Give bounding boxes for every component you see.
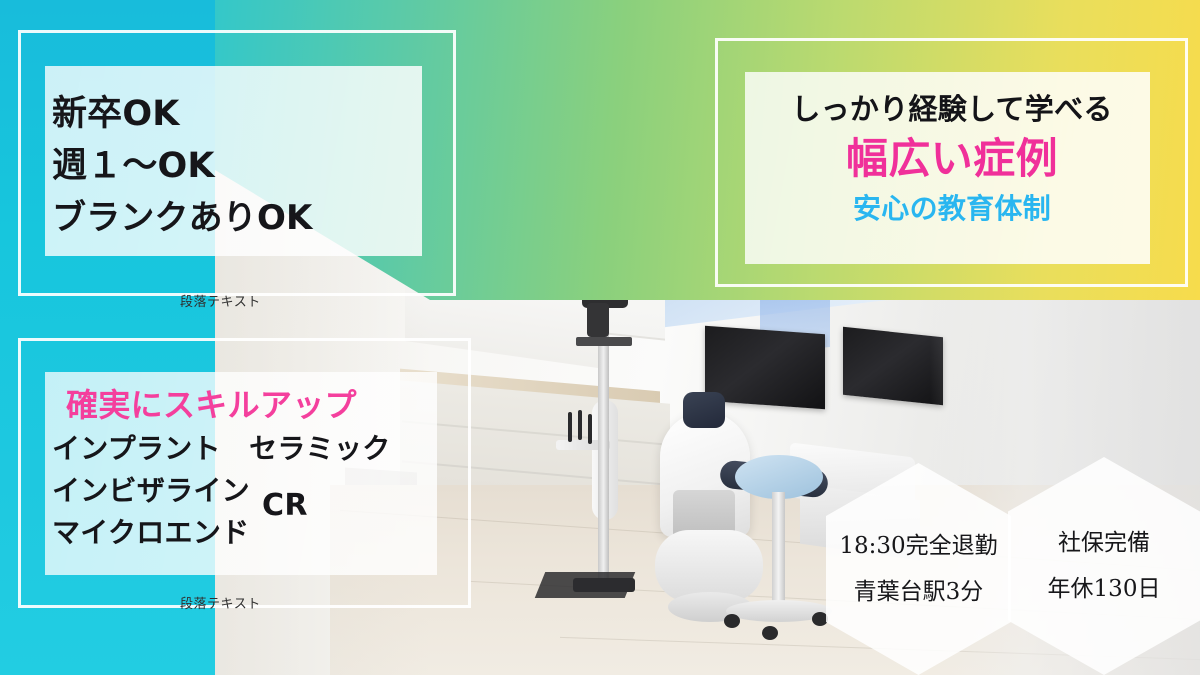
hex-badge-1-line-2: 青葉台駅3分 bbox=[854, 569, 984, 615]
caption-top-left: 段落テキスト bbox=[180, 291, 261, 310]
hex-badge-2-line-1: 社保完備 bbox=[1058, 520, 1150, 566]
photo-caster bbox=[762, 626, 778, 640]
bottom-left-item-2: インビザライン bbox=[52, 470, 452, 512]
photo-instrument bbox=[588, 414, 592, 444]
photo-floor-mat bbox=[535, 572, 636, 598]
bottom-left-item-3: マイクロエンド bbox=[52, 512, 452, 554]
bottom-left-cr-badge: CR bbox=[262, 488, 308, 523]
poster-canvas: 新卒OK 週１〜OK ブランクありOK 段落テキスト しっかり経験して学べる 幅… bbox=[0, 0, 1200, 675]
photo-dental-chair-headrest bbox=[683, 392, 725, 428]
top-left-line-3: ブランクありOK bbox=[52, 192, 472, 244]
bottom-left-heading: 確実にスキルアップ bbox=[66, 382, 452, 428]
top-right-subline: 安心の教育体制 bbox=[752, 188, 1152, 230]
photo-caster bbox=[812, 612, 828, 626]
caption-bottom-left: 段落テキスト bbox=[180, 593, 261, 612]
hex-badge-1-line-1: 18:30完全退勤 bbox=[839, 523, 997, 569]
top-left-line-2: 週１〜OK bbox=[52, 140, 472, 192]
photo-instrument bbox=[578, 410, 582, 440]
top-right-line-1: しっかり経験して学べる bbox=[752, 88, 1152, 130]
bottom-left-item-1: インプラント セラミック bbox=[52, 428, 452, 470]
bottom-left-text-group: 確実にスキルアップ インプラント セラミック インビザライン マイクロエンド bbox=[52, 382, 452, 554]
photo-microscope-plate bbox=[576, 337, 632, 346]
top-left-text-group: 新卒OK 週１〜OK ブランクありOK bbox=[52, 88, 472, 244]
top-right-headline: 幅広い症例 bbox=[752, 130, 1152, 188]
photo-instrument bbox=[568, 412, 572, 442]
photo-stool-pole bbox=[772, 492, 785, 610]
top-right-text-group: しっかり経験して学べる 幅広い症例 安心の教育体制 bbox=[752, 88, 1152, 230]
photo-monitor-right bbox=[843, 327, 943, 406]
top-left-line-1: 新卒OK bbox=[52, 88, 472, 140]
photo-caster bbox=[724, 614, 740, 628]
hex-badge-2-line-2: 年休130日 bbox=[1048, 566, 1161, 612]
photo-microscope-pole bbox=[598, 330, 609, 585]
photo-microscope-body bbox=[587, 303, 609, 337]
